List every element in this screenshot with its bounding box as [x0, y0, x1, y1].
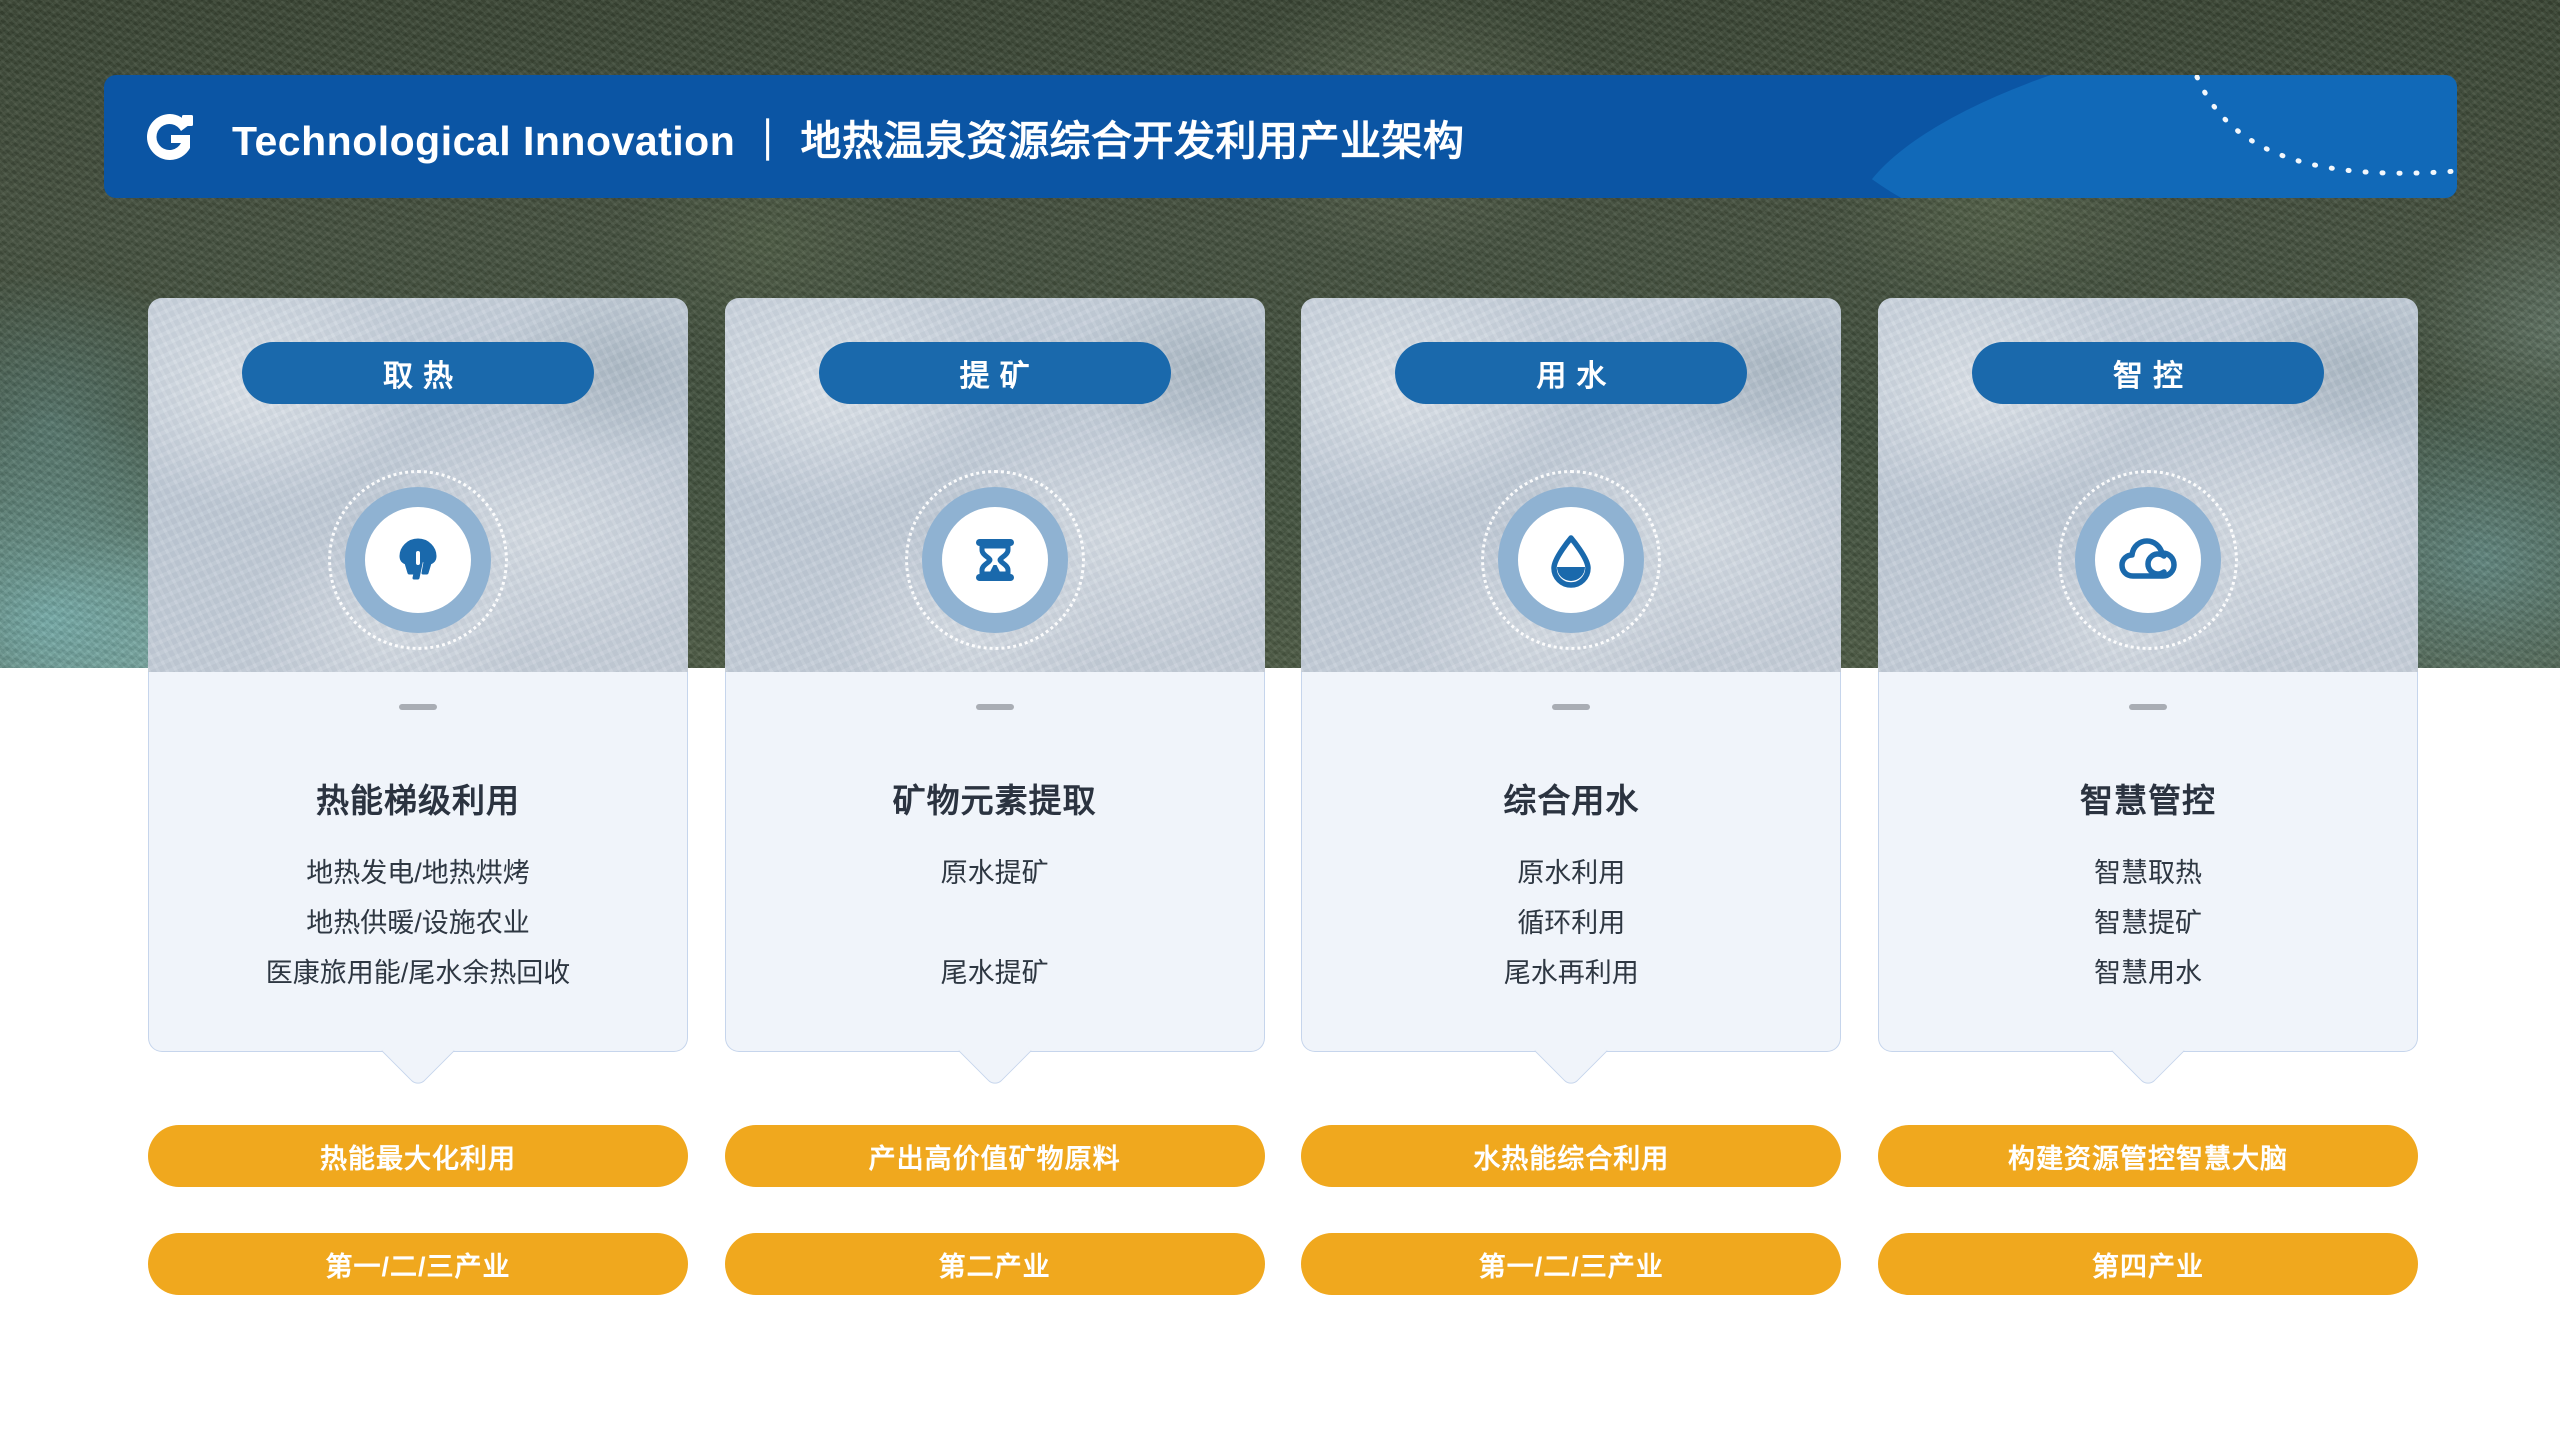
industry-pill[interactable]: 第一/二/三产业	[1301, 1233, 1841, 1295]
outcome-pill-row: 热能最大化利用 产出高价值矿物原料 水热能综合利用 构建资源管控智慧大脑	[148, 1125, 2418, 1187]
geothermal-heat-icon	[387, 529, 449, 591]
water-droplet-icon	[1543, 532, 1599, 588]
card-tail	[958, 1014, 1032, 1088]
card-badge: 用水	[1395, 342, 1747, 404]
card-line: 原水提矿	[726, 848, 1264, 898]
card-icon-wrap	[905, 470, 1085, 650]
card-body: 热能梯级利用 地热发电/地热烘烤 地热供暖/设施农业 医康旅用能/尾水余热回收	[148, 672, 688, 1052]
card-badge: 取热	[242, 342, 594, 404]
card-line: 地热发电/地热烘烤	[149, 848, 687, 898]
card-heading: 矿物元素提取	[726, 774, 1264, 822]
pillar-card-water[interactable]: 用水 综合用水 原水利用 循环利用 尾水再利用	[1301, 298, 1841, 1088]
card-badge: 智控	[1972, 342, 2324, 404]
card-photo-header: 用水	[1301, 298, 1841, 672]
card-line: 地热供暖/设施农业	[149, 898, 687, 948]
card-heading: 热能梯级利用	[149, 774, 687, 822]
industry-pill[interactable]: 第一/二/三产业	[148, 1233, 688, 1295]
card-line: 智慧取热	[1879, 848, 2417, 898]
card-icon-wrap	[1481, 470, 1661, 650]
card-detail-lines: 原水利用 循环利用 尾水再利用	[1302, 848, 1840, 998]
card-tail	[2111, 1014, 2185, 1088]
card-icon-wrap	[328, 470, 508, 650]
cloud-control-icon	[2117, 532, 2179, 588]
card-icon-wrap	[2058, 470, 2238, 650]
card-line: 尾水再利用	[1302, 948, 1840, 998]
card-line-spacer	[726, 898, 1264, 948]
card-heading: 综合用水	[1302, 774, 1840, 822]
card-heading: 智慧管控	[1879, 774, 2417, 822]
pillar-card-smart-control[interactable]: 智控 智慧管控 智慧取热 智慧提矿 智慧用水	[1878, 298, 2418, 1088]
card-line: 智慧提矿	[1879, 898, 2417, 948]
header-decorative-dotted-curve	[1897, 75, 2457, 198]
card-divider	[1552, 704, 1590, 710]
page-title: Technological Innovation ｜ 地热温泉资源综合开发利用产…	[232, 107, 1465, 167]
pillar-card-mineral[interactable]: 提矿 矿物元素提取 原水提矿 尾水提矿	[725, 298, 1265, 1088]
card-body: 智慧管控 智慧取热 智慧提矿 智慧用水	[1878, 672, 2418, 1052]
card-line: 循环利用	[1302, 898, 1840, 948]
card-line: 尾水提矿	[726, 948, 1264, 998]
card-body: 矿物元素提取 原水提矿 尾水提矿	[725, 672, 1265, 1052]
card-divider	[976, 704, 1014, 710]
icon-disc	[942, 507, 1048, 613]
card-tail	[1535, 1014, 1609, 1088]
industry-pill[interactable]: 第四产业	[1878, 1233, 2418, 1295]
card-detail-lines: 地热发电/地热烘烤 地热供暖/设施农业 医康旅用能/尾水余热回收	[149, 848, 687, 998]
icon-disc	[2095, 507, 2201, 613]
card-line: 原水利用	[1302, 848, 1840, 898]
header-bar: Technological Innovation ｜ 地热温泉资源综合开发利用产…	[104, 75, 2457, 198]
card-divider	[2129, 704, 2167, 710]
card-divider	[399, 704, 437, 710]
industry-pill-row: 第一/二/三产业 第二产业 第一/二/三产业 第四产业	[148, 1233, 2418, 1295]
outcome-pill[interactable]: 热能最大化利用	[148, 1125, 688, 1187]
card-detail-lines: 智慧取热 智慧提矿 智慧用水	[1879, 848, 2417, 998]
card-photo-header: 智控	[1878, 298, 2418, 672]
card-detail-lines: 原水提矿 尾水提矿	[726, 848, 1264, 998]
industry-pill[interactable]: 第二产业	[725, 1233, 1265, 1295]
card-line: 医康旅用能/尾水余热回收	[149, 948, 687, 998]
outcome-pill[interactable]: 水热能综合利用	[1301, 1125, 1841, 1187]
outcome-pill[interactable]: 产出高价值矿物原料	[725, 1125, 1265, 1187]
icon-disc	[365, 507, 471, 613]
hourglass-icon	[966, 531, 1024, 589]
card-photo-header: 取热	[148, 298, 688, 672]
pillar-cards-row: 取热 热能梯级利用 地热发电/地热烘烤 地热供暖/设施农业 医康旅用能/尾水余热…	[148, 298, 2418, 1088]
card-tail	[381, 1014, 455, 1088]
card-body: 综合用水 原水利用 循环利用 尾水再利用	[1301, 672, 1841, 1052]
g-brand-logo-icon	[142, 109, 198, 165]
card-badge: 提矿	[819, 342, 1171, 404]
pillar-card-heat[interactable]: 取热 热能梯级利用 地热发电/地热烘烤 地热供暖/设施农业 医康旅用能/尾水余热…	[148, 298, 688, 1088]
outcome-pill[interactable]: 构建资源管控智慧大脑	[1878, 1125, 2418, 1187]
icon-disc	[1518, 507, 1624, 613]
card-photo-header: 提矿	[725, 298, 1265, 672]
card-line: 智慧用水	[1879, 948, 2417, 998]
